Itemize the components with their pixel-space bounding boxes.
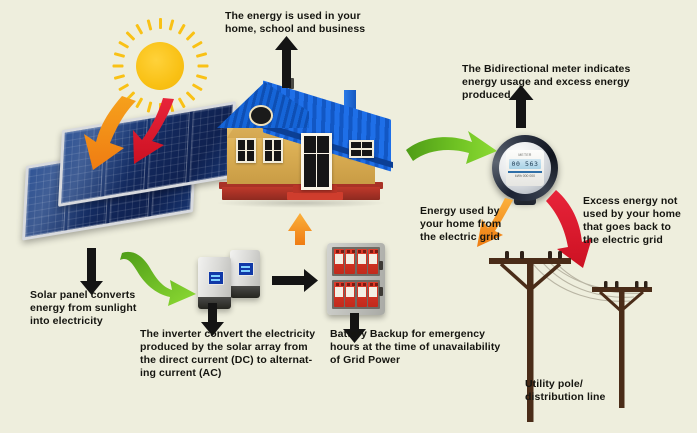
inverter-icon [198,257,231,309]
attic-window-icon [249,105,273,126]
arrow-grid-to-house-orange [288,213,312,245]
distribution-wires [533,262,643,301]
label-solar-panel: Solar panel converts energy from sunligh… [30,289,136,328]
label-meter: The Bidirectional meter indicates energy… [462,63,630,102]
electric-meter-icon: METER 00 563 kWh 000 000 [492,131,558,205]
label-energy-used: Energy used by your home from the electr… [420,205,501,244]
label-excess-energy: Excess energy not used by your home that… [583,195,681,247]
meter-subtext: kWh 000 000 [509,174,541,179]
house-icon [205,78,395,210]
arrow-panel-down-black [80,248,103,295]
window-icon [236,138,256,163]
arrow-inverter-to-battery-black [272,269,318,292]
battery-rack-icon [327,243,385,315]
meter-brand: METER [506,153,544,157]
label-utility-pole: Utility pole/ distribution line [525,378,605,404]
label-battery: Battery Backup for emergency hours at th… [330,328,500,367]
label-inverter: The inverter convert the electricity pro… [140,328,315,380]
window-icon [263,138,283,163]
arrow-house-to-meter-green [406,131,497,164]
sun-icon [112,18,208,114]
sun-disc [136,42,184,90]
label-home-usage: The energy is used in your home, school … [225,10,365,36]
diagram-canvas: METER 00 563 kWh 000 000 [0,0,697,433]
window-icon [349,140,374,158]
meter-reading: 00 563 [509,159,541,169]
inverter-icon [230,250,260,298]
door-icon [301,133,332,190]
